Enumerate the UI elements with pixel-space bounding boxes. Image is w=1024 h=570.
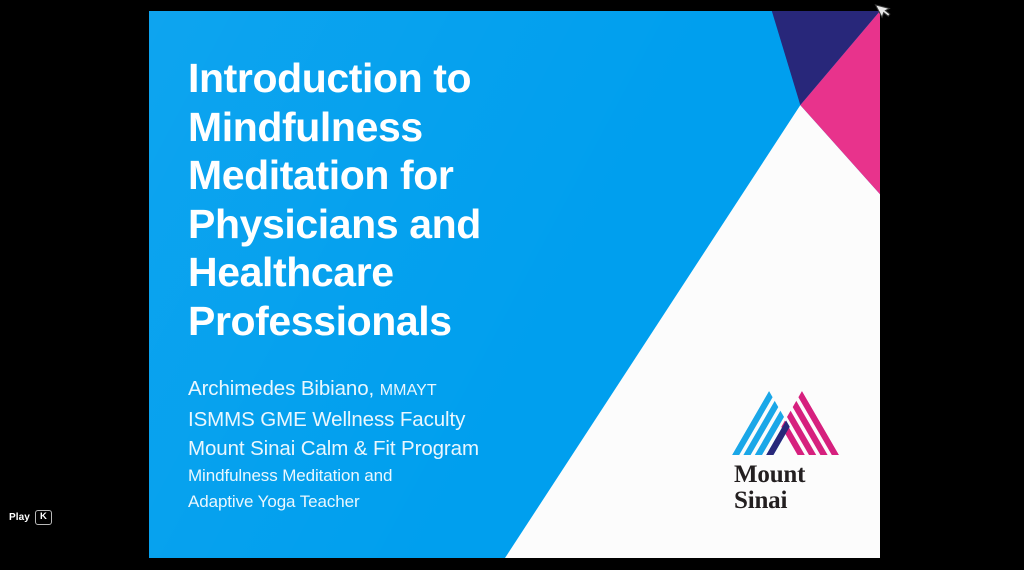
presenter-name: Archimedes Bibiano, <box>188 377 380 400</box>
slide-title: Introduction to Mindfulness Meditation f… <box>188 54 608 345</box>
player-controls[interactable]: Play K <box>9 510 52 525</box>
play-button-label[interactable]: Play <box>9 512 30 523</box>
video-player-stage[interactable]: Introduction to Mindfulness Meditation f… <box>0 0 1024 570</box>
presentation-slide: Introduction to Mindfulness Meditation f… <box>149 11 880 558</box>
mount-sinai-logo: Mount Sinai <box>728 389 846 519</box>
wordmark-line-2: Sinai <box>734 488 846 514</box>
play-shortcut-key-badge: K <box>35 510 52 525</box>
affiliation-line: ISMMS GME Wellness Faculty <box>188 405 608 434</box>
presenter-credential: MMAYT <box>380 382 437 399</box>
role-line-2: Adaptive Yoga Teacher <box>188 489 608 515</box>
mount-sinai-wordmark: Mount Sinai <box>728 462 846 513</box>
role-line-1: Mindfulness Meditation and <box>188 463 608 489</box>
slide-subtitle-block: Archimedes Bibiano, MMAYT ISMMS GME Well… <box>188 374 608 515</box>
mount-sinai-mountain-icon <box>732 389 842 455</box>
wordmark-line-1: Mount <box>734 462 846 488</box>
slide-text-block: Introduction to Mindfulness Meditation f… <box>188 54 608 515</box>
program-line: Mount Sinai Calm & Fit Program <box>188 434 608 463</box>
presenter-line: Archimedes Bibiano, MMAYT <box>188 374 608 405</box>
